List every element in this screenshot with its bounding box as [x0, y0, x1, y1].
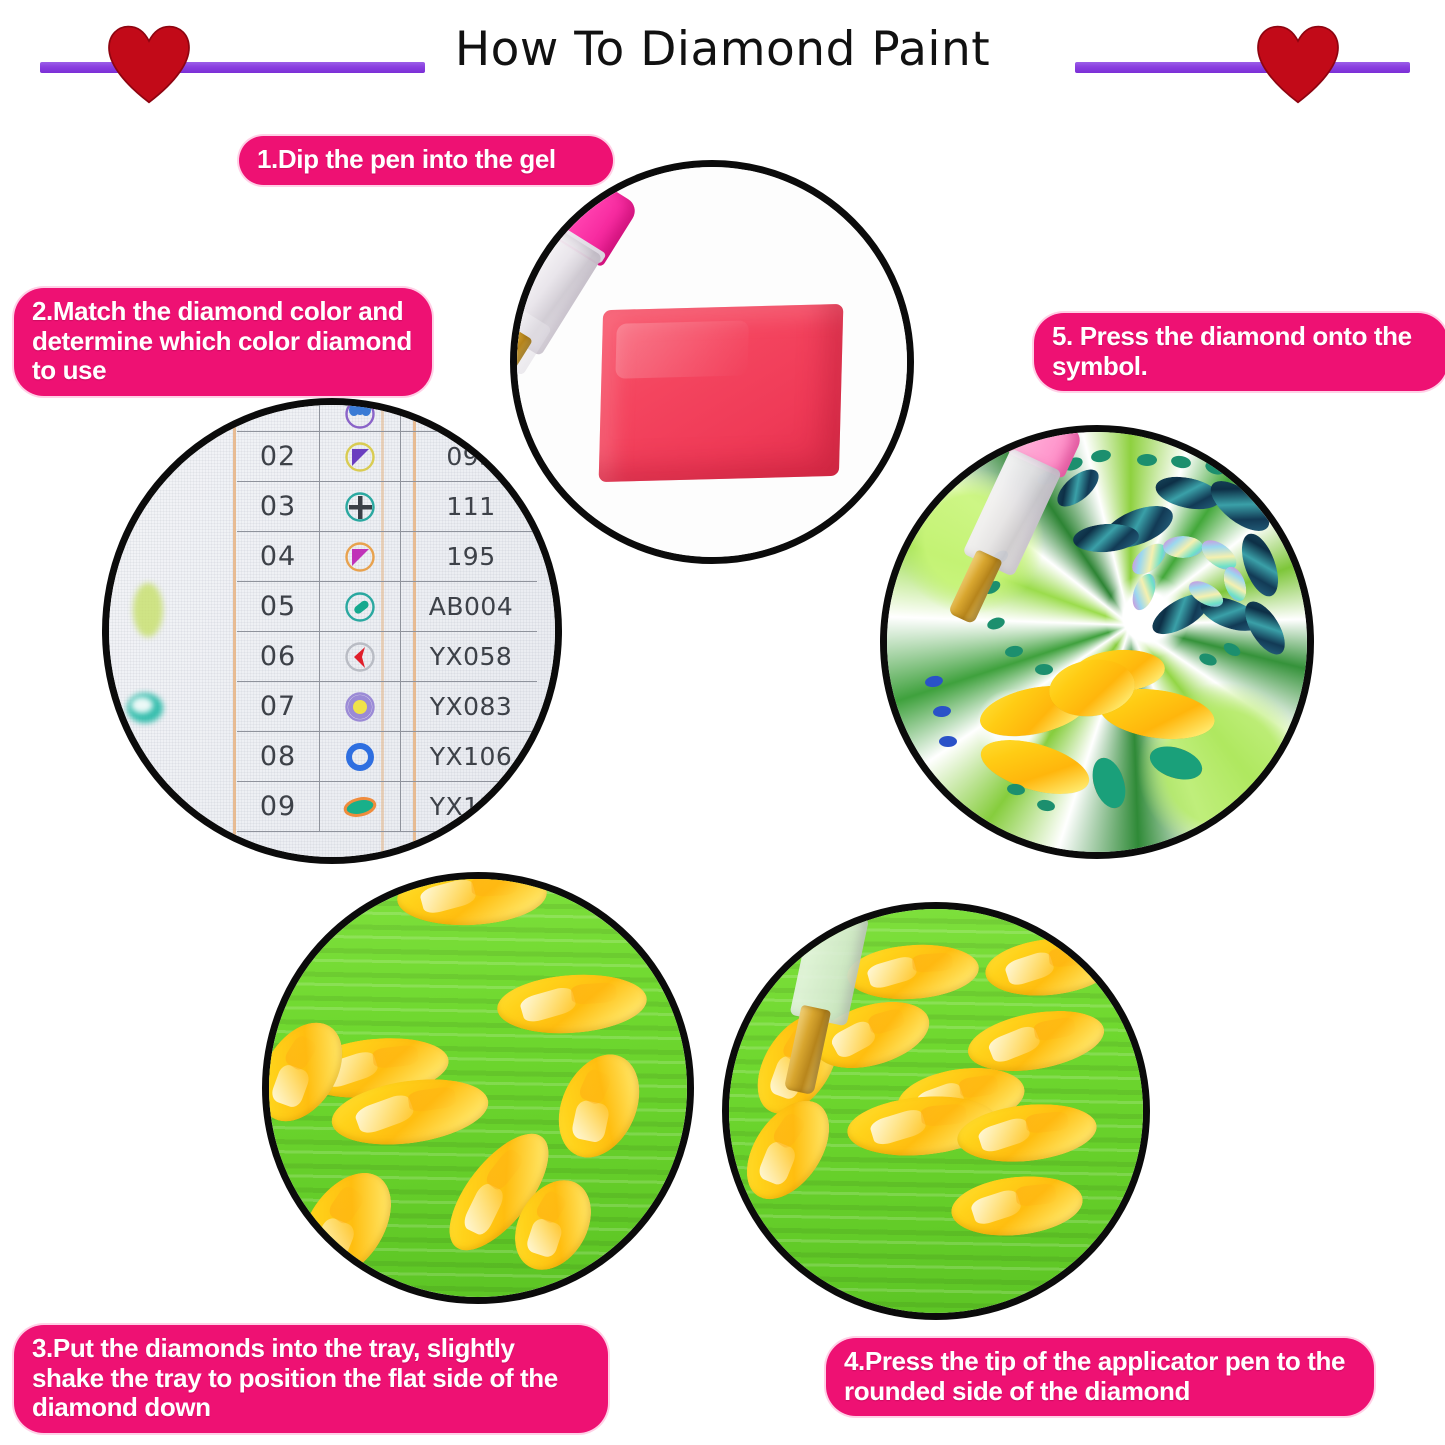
canvas-symbol-blob — [133, 583, 163, 637]
step-2-label: 2.Match the diamond color and determine … — [14, 288, 432, 396]
step-5-photo — [880, 425, 1314, 859]
legend-row: 028 — [237, 398, 537, 432]
infographic-root: How To Diamond Paint 1.Dip the pen into … — [0, 0, 1445, 1445]
canvas-symbol-blob — [131, 697, 153, 713]
plus-symbol — [320, 482, 401, 531]
gel-block — [599, 304, 844, 482]
legend-row: 03111 — [237, 482, 537, 532]
legend-row-code: 111 — [401, 492, 537, 521]
legend-row: 06YX058 — [237, 632, 537, 682]
double-dot-circle-symbol — [320, 398, 401, 431]
legend-row: 07YX083 — [237, 682, 537, 732]
legend-row: 02093 — [237, 432, 537, 482]
pen-tip — [784, 1005, 831, 1095]
printed-symbol-dot — [939, 736, 957, 747]
legend-row-number: 06 — [237, 632, 320, 681]
legend-row: 09YX125 — [237, 782, 537, 832]
printed-symbol-dot — [1035, 664, 1053, 675]
pen-tip — [948, 549, 1003, 624]
legend-row: 05AB004 — [237, 582, 537, 632]
legend-row-number: 08 — [237, 732, 320, 781]
legend-row-number: 02 — [237, 432, 320, 481]
legend-row-number: 05 — [237, 582, 320, 631]
triangle-symbol — [320, 432, 401, 481]
legend-row-code: 093 — [401, 442, 537, 471]
triangle-symbol — [320, 532, 401, 581]
legend-row-code: YX125 — [401, 792, 537, 821]
legend-row-code: 195 — [401, 542, 537, 571]
legend-row-number: 04 — [237, 532, 320, 581]
mandala-gem — [1163, 536, 1203, 558]
legend-row: 08YX106 — [237, 732, 537, 782]
sheet-stripe — [233, 405, 236, 857]
step-3-label: 3.Put the diamonds into the tray, slight… — [14, 1325, 608, 1433]
chevron-left-symbol — [320, 632, 401, 681]
step-4-photo — [722, 902, 1150, 1320]
color-legend-table: 02802093031110419505AB00406YX05807YX0830… — [237, 398, 537, 832]
legend-row-number: 03 — [237, 482, 320, 531]
step-1-photo — [510, 160, 914, 564]
legend-row-code: AB004 — [401, 592, 537, 621]
ring-symbol — [320, 732, 401, 781]
step-5-label: 5. Press the diamond onto the symbol. — [1034, 313, 1445, 391]
step-2-photo: 02802093031110419505AB00406YX05807YX0830… — [102, 398, 562, 864]
legend-row-number — [237, 398, 320, 431]
step-3-photo — [262, 872, 694, 1304]
legend-row-code: YX083 — [401, 692, 537, 721]
step-4-label: 4.Press the tip of the applicator pen to… — [826, 1338, 1374, 1416]
header: How To Diamond Paint — [0, 0, 1445, 120]
legend-row-number: 09 — [237, 782, 320, 831]
diagonal-pill-symbol — [320, 582, 401, 631]
leaf-symbol — [320, 782, 401, 831]
legend-row-code: YX106 — [401, 742, 537, 771]
page-title: How To Diamond Paint — [0, 22, 1445, 77]
legend-row: 04195 — [237, 532, 537, 582]
legend-row-number: 07 — [237, 682, 320, 731]
printed-symbol-dot — [1137, 454, 1157, 466]
filled-ring-symbol — [320, 682, 401, 731]
legend-row-code: YX058 — [401, 642, 537, 671]
